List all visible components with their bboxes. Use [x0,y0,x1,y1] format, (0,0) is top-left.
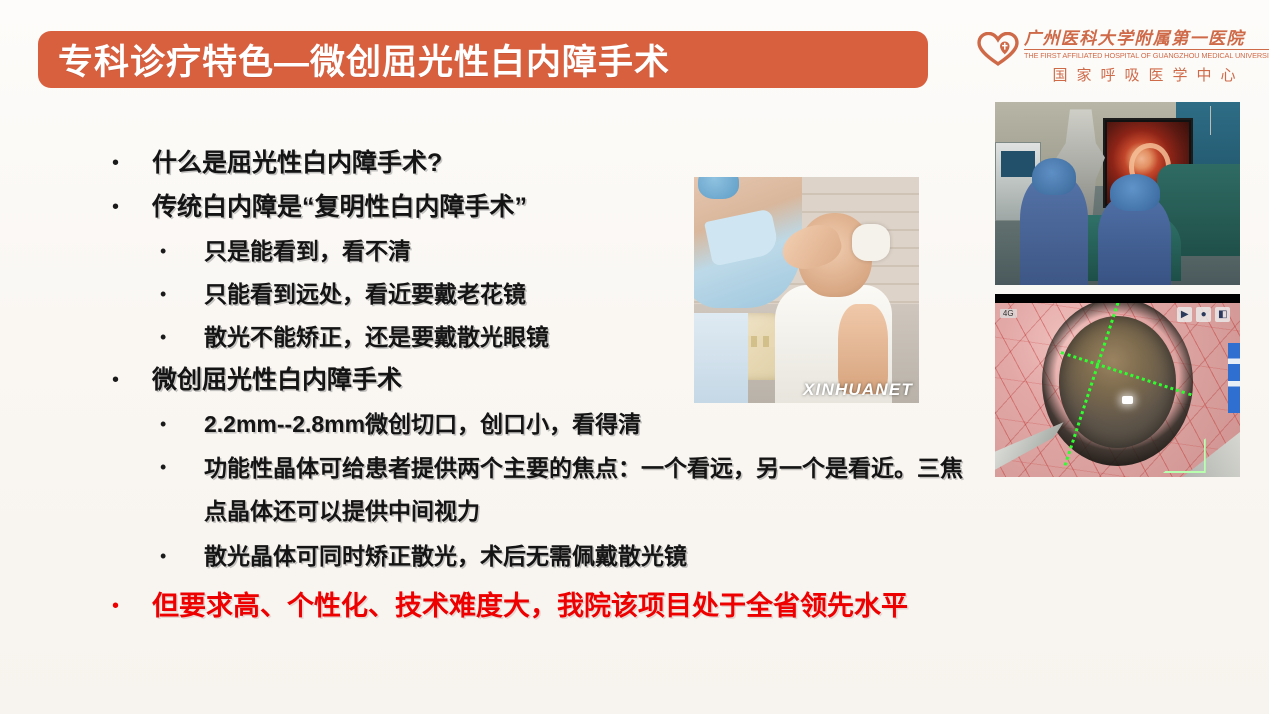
photo-eye-patch [852,224,890,260]
bullet-item: • 只是能看到，看不清 [112,231,1087,271]
record-icon[interactable]: ● [1196,307,1211,322]
photo-light-reflex [1122,396,1133,404]
logo-name-cn: 广州医科大学附属第一医院 [1024,30,1269,48]
bullet-text: 微创屈光性白内障手术 [152,360,402,400]
bullet-marker: • [112,143,152,183]
logo-divider [1024,49,1269,50]
photo-nurse-cap [698,177,739,199]
photo-surgeon-one-cap [1032,158,1076,195]
play-icon[interactable]: ▶ [1177,307,1192,322]
title-banner: 专科诊疗特色—微创屈光性白内障手术 [38,31,928,88]
capture-icon[interactable]: ◧ [1215,307,1230,322]
bullet-marker: • [160,536,204,576]
photo-surgeon-two [1098,194,1172,286]
bullet-item: • 只能看到远处，看近要戴老花镜 [112,274,1087,314]
photo-watermark: XINHUANET [803,380,913,400]
bullet-item: • 什么是屈光性白内障手术? [112,143,1087,183]
bullet-text: 只能看到远处，看近要戴老花镜 [204,274,526,314]
bullet-marker: • [160,317,204,357]
elderly-patient-photo: XINHUANET [694,177,919,403]
bullet-item-emphasis: • 但要求高、个性化、技术难度大，我院该项目处于全省领先水平 [112,586,1087,626]
photo-surgeon-two-cap [1110,174,1160,210]
content-body: • 什么是屈光性白内障手术? • 传统白内障是“复明性白内障手术” • 只是能看… [112,143,1087,630]
logo-subtitle-cn: 国家呼吸医学中心 [1024,64,1269,85]
bullet-item: • 传统白内障是“复明性白内障手术” [112,187,1087,227]
photo-second-nurse [694,313,748,403]
logo-text-group: 广州医科大学附属第一医院 THE FIRST AFFILIATED HOSPIT… [1024,30,1269,85]
bullet-marker: • [112,360,152,400]
bullet-text: 散光晶体可同时矫正散光，术后无需佩戴散光镜 [204,536,687,576]
bullet-marker: • [160,231,204,271]
bullet-item: • 散光晶体可同时矫正散光，术后无需佩戴散光镜 [112,536,1087,576]
page-title: 专科诊疗特色—微创屈光性白内障手术 [38,34,670,85]
photo-signal-tag: 4G [1000,309,1017,318]
bullet-item: • 微创屈光性白内障手术 [112,360,1087,400]
photo-side-indicator [1228,343,1240,413]
eye-microscope-photo: 4G ▶ ● ◧ [995,294,1240,477]
bullet-text: 什么是屈光性白内障手术? [152,143,442,183]
bullet-item: • 2.2mm--2.8mm微创切口，创口小，看得清 [112,404,1087,444]
photo-surgeon-one [1020,175,1089,285]
photo-top-letterbox [995,294,1240,303]
bullet-marker: • [160,404,204,444]
bullet-text: 传统白内障是“复明性白内障手术” [152,187,527,227]
bullet-text: 散光不能矫正，还是要戴散光眼镜 [204,317,549,357]
slide: 专科诊疗特色—微创屈光性白内障手术 广州医科大学附属第一医院 THE FIRST… [0,0,1269,714]
bullet-text: 只是能看到，看不清 [204,231,411,271]
bullet-item: • 功能性晶体可给患者提供两个主要的焦点：一个看远，另一个是看近。三焦 点晶体还… [112,447,1087,533]
hospital-logo: 广州医科大学附属第一医院 THE FIRST AFFILIATED HOSPIT… [977,30,1247,92]
bullet-text-emphasis: 但要求高、个性化、技术难度大，我院该项目处于全省领先水平 [152,586,908,626]
bullet-item: • 散光不能矫正，还是要戴散光眼镜 [112,317,1087,357]
bullet-text: 功能性晶体可给患者提供两个主要的焦点：一个看远，另一个是看近。三焦 点晶体还可以… [204,447,963,533]
bullet-marker: • [112,187,152,227]
bullet-marker: • [160,447,204,487]
operating-room-photo [995,102,1240,285]
bullet-text: 2.2mm--2.8mm微创切口，创口小，看得清 [204,404,641,444]
bullet-marker: • [112,586,152,626]
photo-iv-pole [1210,106,1211,135]
logo-name-en: THE FIRST AFFILIATED HOSPITAL OF GUANGZH… [1024,51,1269,60]
hospital-heart-logo-icon [977,32,1019,66]
bullet-marker: • [160,274,204,314]
photo-osd-controls: ▶ ● ◧ [1177,307,1230,322]
